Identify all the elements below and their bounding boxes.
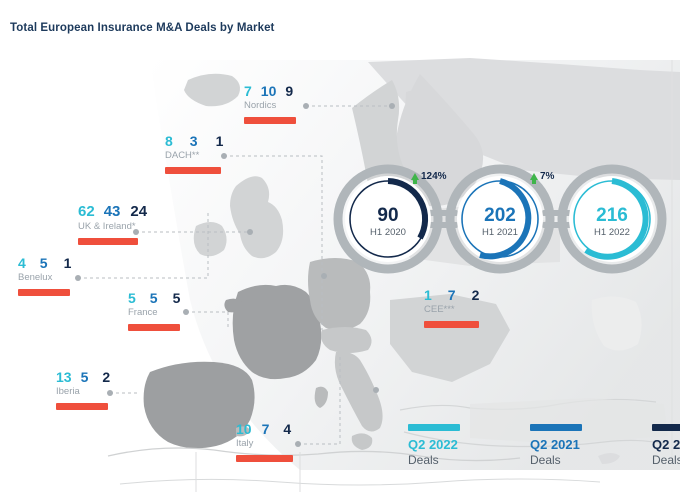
- market-value-q2-2020: 2: [102, 370, 110, 384]
- market-values: 1 7 2: [424, 288, 479, 302]
- legend-year: Q2 2021: [530, 438, 608, 451]
- market-value-q2-2020: 5: [173, 291, 181, 305]
- growth-badge-2021-2022: 7%: [530, 171, 554, 182]
- legend-sub: Deals: [530, 454, 608, 466]
- market-values: 8 3 1: [165, 134, 223, 148]
- legend: Q2 2022 Deals Q2 2021 Deals Q2 2020 Deal…: [408, 424, 680, 466]
- legend-year: Q2 2022: [408, 438, 486, 451]
- market-callout-france[interactable]: 5 5 5 France: [128, 291, 180, 331]
- legend-item-q2-2022[interactable]: Q2 2022 Deals: [408, 424, 486, 466]
- growth-value: 7%: [540, 171, 554, 182]
- market-underline-bar: [244, 117, 296, 124]
- market-value-q2-2022: 10: [236, 422, 252, 436]
- market-value-q2-2022: 4: [18, 256, 26, 270]
- growth-badge-2020-2021: 124%: [411, 171, 447, 182]
- ring-value: 202: [484, 205, 516, 226]
- market-label: Benelux: [18, 273, 71, 283]
- legend-swatch: [530, 424, 582, 431]
- market-value-q2-2020: 24: [130, 204, 147, 219]
- ring-h1-2021: 202 H1 2021: [450, 169, 550, 269]
- market-values: 7 10 9: [244, 84, 296, 98]
- market-value-q2-2020: 1: [64, 256, 72, 270]
- market-underline-bar: [56, 403, 108, 410]
- ring-value: 216: [596, 205, 628, 226]
- page-title: Total European Insurance M&A Deals by Ma…: [10, 22, 275, 34]
- market-value-q2-2021: 5: [81, 370, 89, 384]
- market-label: DACH**: [165, 151, 223, 161]
- totals-ring-group: 90 H1 2020 202 H1 2021 216 H1 2022: [330, 160, 670, 280]
- market-value-q2-2022: 5: [128, 291, 136, 305]
- market-callout-dach[interactable]: 8 3 1 DACH**: [165, 134, 223, 174]
- market-value-q2-2022: 8: [165, 134, 173, 148]
- market-value-q2-2020: 2: [472, 288, 480, 302]
- market-values: 62 43 24: [78, 204, 147, 219]
- ring-period: H1 2020: [370, 227, 406, 238]
- legend-item-q2-2020[interactable]: Q2 2020 Deals: [652, 424, 680, 466]
- market-callout-cee[interactable]: 1 7 2 CEE***: [424, 288, 479, 328]
- market-callout-iberia[interactable]: 13 5 2 Iberia: [56, 370, 110, 410]
- market-label: Iberia: [56, 387, 110, 397]
- ring-value: 90: [377, 205, 398, 226]
- ring-period: H1 2021: [482, 227, 518, 238]
- market-callout-italy[interactable]: 10 7 4 Italy: [236, 422, 293, 462]
- market-callout-benelux[interactable]: 4 5 1 Benelux: [18, 256, 71, 296]
- market-callout-uk-ireland[interactable]: 62 43 24 UK & Ireland*: [78, 204, 147, 245]
- market-value-q2-2022: 7: [244, 84, 252, 98]
- ring-h1-2022: 216 H1 2022: [562, 169, 662, 269]
- market-underline-bar: [165, 167, 221, 174]
- market-values: 4 5 1: [18, 256, 71, 270]
- market-value-q2-2021: 7: [448, 288, 456, 302]
- ring-period: H1 2022: [594, 227, 630, 238]
- arrow-up-icon: [411, 173, 419, 180]
- market-values: 5 5 5: [128, 291, 180, 305]
- market-value-q2-2021: 10: [261, 84, 277, 98]
- ring-h1-2020: 90 H1 2020: [338, 169, 438, 269]
- market-values: 10 7 4: [236, 422, 293, 436]
- market-values: 13 5 2: [56, 370, 110, 384]
- market-value-q2-2022: 62: [78, 204, 95, 219]
- legend-sub: Deals: [652, 454, 680, 466]
- market-label: Nordics: [244, 101, 296, 111]
- market-underline-bar: [128, 324, 180, 331]
- market-label: UK & Ireland*: [78, 222, 147, 232]
- legend-swatch: [652, 424, 680, 431]
- legend-sub: Deals: [408, 454, 486, 466]
- legend-swatch: [408, 424, 460, 431]
- arrow-up-icon: [530, 173, 538, 180]
- market-value-q2-2022: 13: [56, 370, 72, 384]
- market-value-q2-2020: 1: [216, 134, 224, 148]
- market-underline-bar: [424, 321, 479, 328]
- market-underline-bar: [78, 238, 138, 245]
- infographic-canvas: Total European Insurance M&A Deals by Ma…: [0, 0, 680, 502]
- legend-item-q2-2021[interactable]: Q2 2021 Deals: [530, 424, 608, 466]
- market-callout-nordics[interactable]: 7 10 9 Nordics: [244, 84, 296, 124]
- market-label: Italy: [236, 439, 293, 449]
- market-value-q2-2021: 7: [262, 422, 270, 436]
- market-label: France: [128, 308, 180, 318]
- market-value-q2-2020: 4: [283, 422, 291, 436]
- market-value-q2-2021: 5: [40, 256, 48, 270]
- growth-value: 124%: [421, 171, 447, 182]
- market-underline-bar: [236, 455, 293, 462]
- market-value-q2-2021: 5: [150, 291, 158, 305]
- market-value-q2-2020: 9: [285, 84, 293, 98]
- market-value-q2-2021: 43: [104, 204, 121, 219]
- market-value-q2-2022: 1: [424, 288, 432, 302]
- legend-year: Q2 2020: [652, 438, 680, 451]
- market-underline-bar: [18, 289, 70, 296]
- market-label: CEE***: [424, 305, 479, 315]
- market-value-q2-2021: 3: [190, 134, 198, 148]
